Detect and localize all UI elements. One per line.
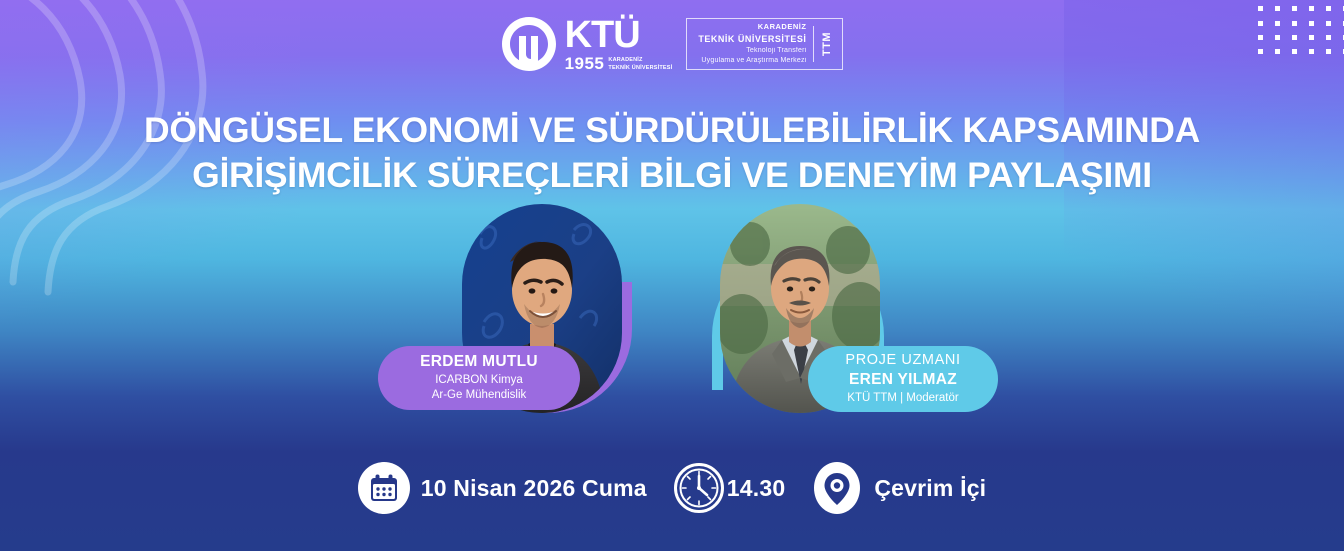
ttm-line3: Teknoloji Transferi xyxy=(698,46,806,56)
page-title: DÖNGÜSEL EKONOMİ VE SÜRDÜRÜLEBİLİRLİK KA… xyxy=(0,108,1344,197)
ttm-line4: Uygulama ve Araştırma Merkezi xyxy=(698,56,806,66)
event-location-text: Çevrim İçi xyxy=(874,475,986,502)
ktu-logo: KTÜ 1955 KARADENİZ TEKNİK ÜNİVERSİTESİ xyxy=(501,16,673,72)
speaker-org-line1: KTÜ TTM | Moderatör xyxy=(847,391,958,407)
event-date-text: 10 Nisan 2026 Cuma xyxy=(421,475,647,502)
ttm-logo-box: KARADENİZ TEKNİK ÜNİVERSİTESİ Teknoloji … xyxy=(686,18,843,70)
event-info-bar: 10 Nisan 2026 Cuma xyxy=(0,462,1344,514)
speaker-name: ERDEM MUTLU xyxy=(420,352,538,373)
ktu-university-line1: KARADENİZ xyxy=(608,57,642,63)
ktu-university-line2: TEKNİK ÜNİVERSİTESİ xyxy=(608,65,672,71)
ttm-line2: TEKNİK ÜNİVERSİTESİ xyxy=(698,33,806,46)
ktu-year: 1955 xyxy=(565,55,605,72)
ktu-wordmark: KTÜ xyxy=(565,16,673,54)
ttm-line1: KARADENİZ xyxy=(698,22,806,33)
speaker-badge: ERDEM MUTLU ICARBON Kimya Ar-Ge Mühendis… xyxy=(378,346,580,410)
event-time-item: 14.30 xyxy=(673,462,786,514)
event-time-text: 14.30 xyxy=(727,475,786,502)
logo-row: KTÜ 1955 KARADENİZ TEKNİK ÜNİVERSİTESİ K… xyxy=(0,16,1344,72)
title-line-2: GİRİŞİMCİLİK SÜREÇLERİ BİLGİ VE DENEYİM … xyxy=(0,153,1344,198)
speaker-badge: PROJE UZMANI EREN YILMAZ KTÜ TTM | Moder… xyxy=(808,346,998,412)
title-line-1: DÖNGÜSEL EKONOMİ VE SÜRDÜRÜLEBİLİRLİK KA… xyxy=(0,108,1344,153)
ttm-vertical-label: TTM xyxy=(821,32,833,56)
ktu-university-name: KARADENİZ TEKNİK ÜNİVERSİTESİ xyxy=(608,57,672,72)
ktu-wordmark-block: KTÜ 1955 KARADENİZ TEKNİK ÜNİVERSİTESİ xyxy=(565,16,673,72)
speaker-name: EREN YILMAZ xyxy=(849,370,957,391)
event-date-item: 10 Nisan 2026 Cuma xyxy=(358,462,647,514)
speaker-card-erdem-mutlu: ERDEM MUTLU ICARBON Kimya Ar-Ge Mühendis… xyxy=(378,198,678,413)
event-location-item: Çevrim İçi xyxy=(811,462,986,514)
ktu-circle-logo-icon xyxy=(501,16,557,72)
ttm-divider xyxy=(813,26,814,62)
speaker-org-line2: Ar-Ge Mühendislik xyxy=(432,388,527,404)
location-pin-icon xyxy=(811,462,863,514)
speaker-org-line1: ICARBON Kimya xyxy=(435,373,523,389)
calendar-icon xyxy=(358,462,410,514)
clock-icon xyxy=(673,462,725,514)
speaker-card-eren-yilmaz: PROJE UZMANI EREN YILMAZ KTÜ TTM | Moder… xyxy=(700,198,1000,413)
event-poster: KTÜ 1955 KARADENİZ TEKNİK ÜNİVERSİTESİ K… xyxy=(0,0,1344,551)
ttm-text-block: KARADENİZ TEKNİK ÜNİVERSİTESİ Teknoloji … xyxy=(698,22,806,66)
speaker-role: PROJE UZMANI xyxy=(845,351,960,370)
